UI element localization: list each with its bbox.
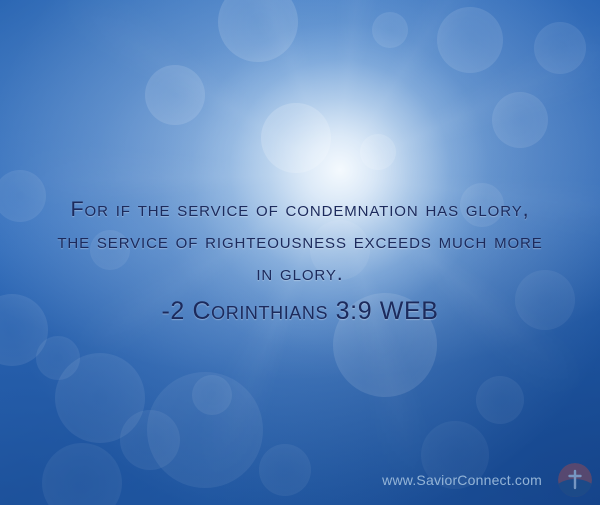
bokeh-circle <box>261 103 331 173</box>
cross-in-circle-icon[interactable] <box>558 463 592 497</box>
verse-attribution: -2 Corinthians 3:9 WEB <box>0 294 600 328</box>
bokeh-circle <box>372 12 408 48</box>
bokeh-circle <box>192 375 232 415</box>
bokeh-circle <box>218 0 298 62</box>
bokeh-circle <box>360 134 396 170</box>
bokeh-circle <box>36 336 80 380</box>
verse-line-3: in glory. <box>0 257 600 289</box>
watermark-url[interactable]: www.SaviorConnect.com <box>382 472 542 488</box>
bokeh-circle <box>120 410 180 470</box>
bokeh-circle <box>42 443 122 505</box>
bokeh-circle <box>55 353 145 443</box>
scripture-image-canvas: For if the service of condemnation has g… <box>0 0 600 505</box>
bokeh-circle <box>145 65 205 125</box>
bokeh-circle <box>492 92 548 148</box>
bokeh-circle <box>534 22 586 74</box>
verse-line-2: the service of righteousness exceeds muc… <box>0 225 600 257</box>
verse-line-1: For if the service of condemnation has g… <box>0 193 600 225</box>
verse-text-block: For if the service of condemnation has g… <box>0 193 600 328</box>
bokeh-circle <box>476 376 524 424</box>
bokeh-circle <box>259 444 311 496</box>
bokeh-circle <box>437 7 503 73</box>
bokeh-circle <box>147 372 263 488</box>
